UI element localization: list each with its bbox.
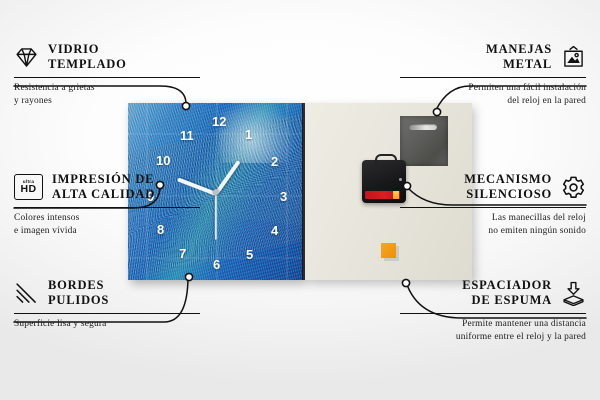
hanging-picture-frame-icon [561,45,586,70]
feature-subtitle-line1: Permiten una fácil instalación [386,82,586,95]
feature-title: VIDRIO TEMPLADO [48,42,127,73]
feature-title: MANEJAS METAL [486,42,552,73]
feature-divider [14,207,200,209]
feature-subtitle-line2: del reloj en la pared [386,95,586,108]
diamond-icon [14,45,39,70]
panel-edge [302,103,305,280]
feature-bordes-pulidos: BORDES PULIDOS Superficie lisa y segura [14,278,214,331]
clock-numeral-10: 10 [156,154,170,167]
feature-divider [14,313,200,315]
gear-icon [561,175,586,200]
clock-numeral-2: 2 [271,155,278,168]
clock-second-hand [215,192,217,239]
foam-spacer [381,243,396,258]
feature-heading: VIDRIO TEMPLADO [14,42,214,73]
art-highlight-glow [219,103,300,163]
feature-subtitle-line1: Colores intensos [14,212,214,225]
feature-divider [400,77,586,79]
feature-heading: ESPACIADOR DE ESPUMA [386,278,586,309]
polished-edge-lines-icon [14,281,39,306]
clock-numeral-11: 11 [180,129,194,142]
feature-subtitle-line1: Permite mantener una distancia [386,318,586,331]
clock-numeral-7: 7 [179,247,186,260]
feature-subtitle-line1: Las manecillas del reloj [386,212,586,225]
feature-subtitle-line2: uniforme entre el reloj y la pared [386,331,586,344]
feature-espaciador-espuma: ESPACIADOR DE ESPUMA Permite mantener un… [386,278,586,343]
clock-numeral-6: 6 [213,258,220,271]
feature-subtitle-line2: no emiten ningún sonido [386,225,586,238]
hanger-keyhole-slot [409,124,437,130]
clock-numeral-12: 12 [212,115,226,128]
mechanism-hanging-loop [375,154,397,165]
feature-manejas-metal: MANEJAS METAL Permiten una fácil instala… [386,42,586,107]
feature-title: IMPRESIÓN DE ALTA CALIDAD [52,172,155,203]
feature-subtitle-line1: Superficie lisa y segura [14,318,214,331]
feature-heading: MECANISMO SILENCIOSO [386,172,586,203]
feature-mecanismo-silencioso: MECANISMO SILENCIOSO Las manecillas del … [386,172,586,237]
clock-numeral-1: 1 [245,128,252,141]
arrow-onto-foam-pad-icon [561,281,586,306]
feature-divider [14,77,200,79]
feature-subtitle-line2: e imagen vívida [14,225,214,238]
feature-title: BORDES PULIDOS [48,278,109,309]
feature-heading: BORDES PULIDOS [14,278,214,309]
feature-title: ESPACIADOR DE ESPUMA [462,278,552,309]
clock-numeral-4: 4 [271,224,278,237]
feature-impresion-alta-calidad: ultra HD IMPRESIÓN DE ALTA CALIDAD Color… [14,172,214,237]
feature-subtitle-line2: y rayones [14,95,214,108]
feature-subtitle-line1: Resistencia a grietas [14,82,214,95]
infographic-canvas: 12 1 2 3 4 5 6 7 8 9 10 11 [0,0,600,400]
feature-title: MECANISMO SILENCIOSO [464,172,552,203]
feature-divider [400,207,586,209]
feature-divider [400,313,586,315]
feature-heading: ultra HD IMPRESIÓN DE ALTA CALIDAD [14,172,214,203]
clock-numeral-5: 5 [246,248,253,261]
feature-vidrio-templado: VIDRIO TEMPLADO Resistencia a grietas y … [14,42,214,107]
ultra-hd-icon: ultra HD [14,174,43,200]
metal-hanger-plate [400,116,448,166]
clock-numeral-3: 3 [280,190,287,203]
feature-heading: MANEJAS METAL [386,42,586,73]
ultra-hd-icon-main-text: HD [21,184,37,195]
